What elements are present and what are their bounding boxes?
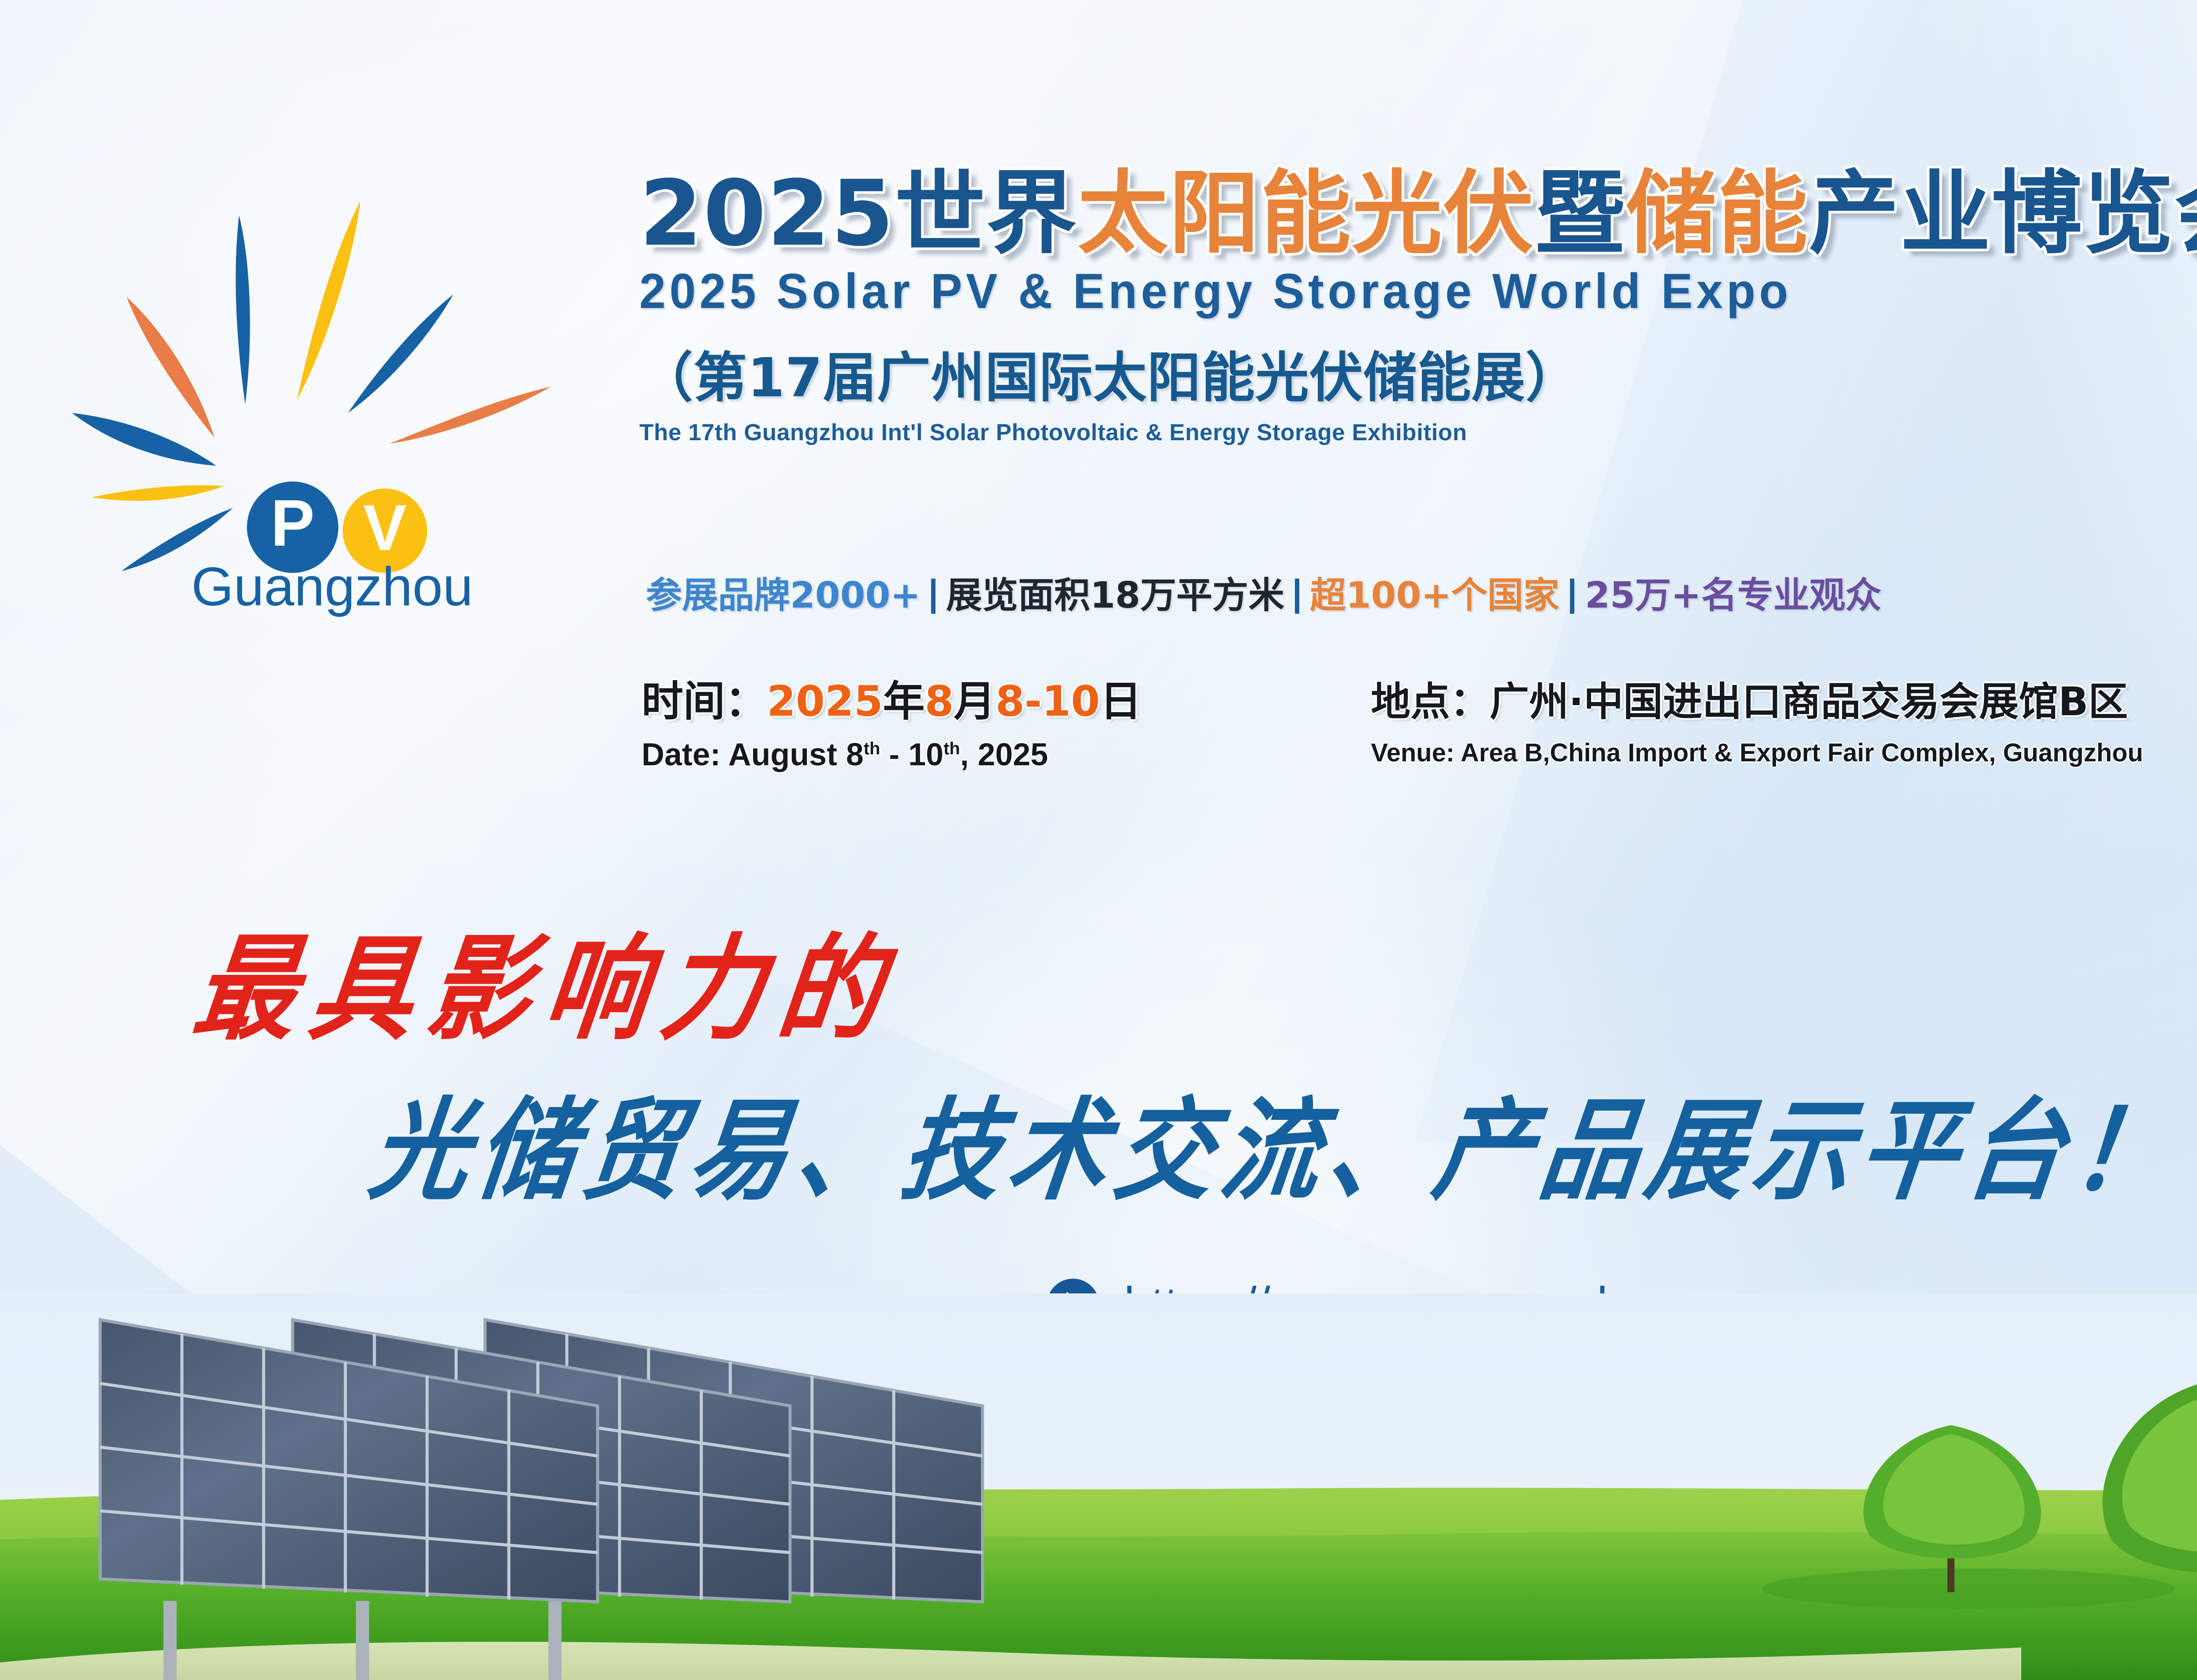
venue-label: 地点：	[1371, 679, 1490, 725]
stat-visitors: 25万+名专业观众	[1585, 575, 1882, 616]
date-day-unit: 日	[1100, 677, 1142, 726]
stat-separator-1	[931, 579, 935, 614]
logo-wordmark: Guangzhou	[191, 557, 473, 617]
title-part-3: 暨	[1534, 161, 1626, 266]
letter-v: V	[363, 492, 407, 564]
venue-chinese: 地点：广州·中国进出口商品交易会展馆B区	[1371, 670, 2143, 727]
headline-block: 2025世界太阳能光伏暨储能产业博览会 2025 Solar PV & Ener…	[639, 166, 2197, 446]
date-en-mid: - 10	[880, 737, 943, 772]
slogan-line-1: 最具影响力的	[186, 896, 908, 1061]
stat-countries: 超100+个国家	[1310, 575, 1559, 616]
date-en-suffix: , 2025	[960, 737, 1048, 772]
date-days: 8-10	[996, 677, 1100, 726]
date-venue-block: 时间：2025年8月8-10日 Date: August 8th - 10th,…	[642, 668, 2197, 773]
title-english: 2025 Solar PV & Energy Storage World Exp…	[639, 263, 2197, 319]
date-chinese: 时间：2025年8月8-10日	[642, 668, 1371, 728]
date-en-sup2: th	[943, 739, 960, 758]
date-month: 8	[924, 677, 953, 726]
date-year: 2025	[767, 677, 883, 726]
title-part-5: 产业博览会	[1809, 161, 2197, 266]
pv-guangzhou-logo: P V Guangzhou	[53, 176, 571, 624]
title-part-4: 储能	[1626, 161, 1809, 266]
date-month-unit: 月	[954, 677, 996, 726]
date-year-unit: 年	[883, 677, 924, 726]
date-english: Date: August 8th - 10th, 2025	[642, 737, 1371, 773]
title-part-1: 2025世界	[639, 161, 1077, 266]
title-part-2: 太阳能光伏	[1077, 161, 1534, 266]
stat-exhibiting-brands: 参展品牌2000+	[646, 575, 921, 616]
statistics-row: 参展品牌2000+展览面积18万平方米超100+个国家25万+名专业观众	[646, 566, 1882, 618]
stat-separator-3	[1570, 579, 1574, 614]
venue-value: 广州·中国进出口商品交易会展馆B区	[1490, 679, 2128, 725]
date-en-sup1: th	[863, 739, 880, 758]
bottom-scene	[0, 1293, 2197, 1680]
letter-p: P	[271, 486, 315, 560]
subtitle-chinese: （第17届广州国际太阳能光伏储能展）	[639, 334, 2197, 412]
stat-separator-2	[1295, 579, 1299, 614]
date-block: 时间：2025年8月8-10日 Date: August 8th - 10th,…	[642, 668, 1371, 773]
venue-block: 地点：广州·中国进出口商品交易会展馆B区 Venue: Area B,China…	[1371, 668, 2143, 768]
title-chinese: 2025世界太阳能光伏暨储能产业博览会	[639, 166, 2197, 261]
subtitle-english: The 17th Guangzhou Int'l Solar Photovolt…	[639, 419, 2197, 446]
date-label: 时间：	[642, 677, 767, 726]
venue-english: Venue: Area B,China Import & Export Fair…	[1371, 738, 2143, 768]
date-en-prefix: Date: August 8	[642, 737, 863, 772]
stat-exhibition-area: 展览面积18万平方米	[946, 575, 1284, 616]
slogan-line-2: 光储贸易、技术交流、产品展示平台！	[363, 1061, 2190, 1221]
